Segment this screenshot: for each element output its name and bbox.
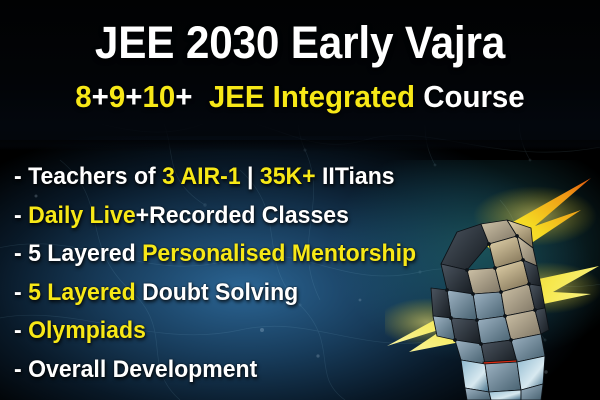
bullet-segment: | bbox=[241, 163, 260, 190]
plus-3: + bbox=[175, 79, 192, 114]
subheadline: 8+9+10+ JEE Integrated Course bbox=[15, 79, 585, 115]
jee-integrated-label: JEE Integrated bbox=[209, 79, 415, 114]
bullet-segment: Daily Live bbox=[28, 202, 136, 229]
list-item: - Teachers of 3 AIR-1 | 35K+ IITians bbox=[14, 158, 416, 197]
page-title: JEE 2030 Early Vajra bbox=[18, 18, 582, 68]
bullet-segment: Personalised Mentorship bbox=[142, 240, 416, 267]
list-item: - 5 Layered Doubt Solving bbox=[14, 274, 416, 313]
bullet-dash: - bbox=[14, 202, 22, 229]
bullet-segment: 3 AIR-1 bbox=[162, 163, 241, 190]
background-divider-band bbox=[0, 140, 600, 152]
bullet-dash: - bbox=[14, 317, 22, 344]
promo-banner: JEE 2030 Early Vajra 8+9+10+ JEE Integra… bbox=[0, 0, 600, 400]
bullet-dash: - bbox=[14, 356, 22, 383]
bullet-dash: - bbox=[14, 279, 22, 306]
grade-10: 10 bbox=[142, 79, 175, 114]
bullet-segment: Doubt Solving bbox=[136, 279, 299, 306]
bullet-segment: Olympiads bbox=[28, 317, 146, 344]
bullet-segment: 5 Layered bbox=[28, 240, 142, 267]
bullet-segment: IITians bbox=[316, 163, 395, 190]
list-item: - Olympiads bbox=[14, 312, 416, 351]
bullet-dash: - bbox=[14, 240, 22, 267]
headline-container: JEE 2030 Early Vajra bbox=[0, 18, 600, 68]
bullet-segment: 35K+ bbox=[260, 163, 316, 190]
course-label: Course bbox=[423, 79, 524, 114]
feature-list: - Teachers of 3 AIR-1 | 35K+ IITians - D… bbox=[14, 158, 433, 389]
bullet-segment: +Recorded Classes bbox=[136, 202, 349, 229]
grade-9: 9 bbox=[109, 79, 125, 114]
list-item: - 5 Layered Personalised Mentorship bbox=[14, 235, 416, 274]
plus-2: + bbox=[125, 79, 142, 114]
bullet-segment: Teachers of bbox=[28, 163, 162, 190]
list-item: - Daily Live+Recorded Classes bbox=[14, 197, 416, 236]
plus-1: + bbox=[92, 79, 109, 114]
list-item: - Overall Development bbox=[14, 351, 416, 390]
bullet-segment: Overall Development bbox=[28, 356, 257, 383]
bullet-dash: - bbox=[14, 163, 22, 190]
grade-8: 8 bbox=[75, 79, 91, 114]
bullet-segment: 5 Layered bbox=[28, 279, 136, 306]
subheadline-container: 8+9+10+ JEE Integrated Course bbox=[0, 79, 600, 115]
